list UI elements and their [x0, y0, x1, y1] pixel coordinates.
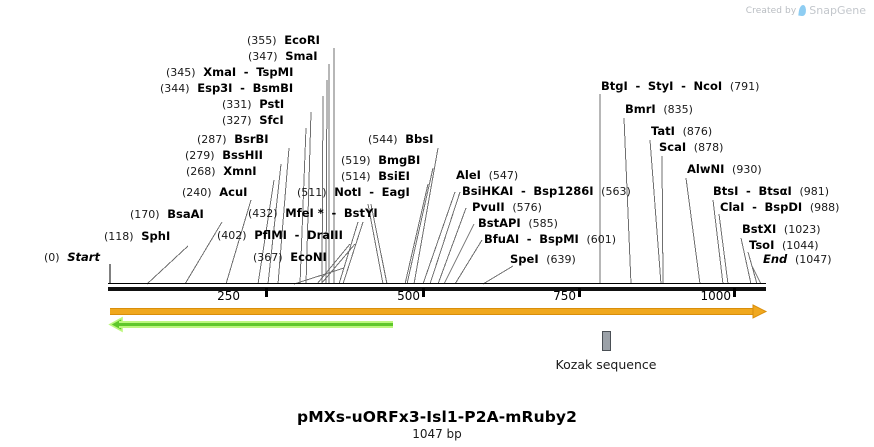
site-separator: -	[752, 200, 757, 214]
axis-tick-750	[578, 288, 581, 297]
site-position: (639)	[546, 253, 576, 266]
plasmid-length: 1047 bp	[0, 427, 874, 441]
site-position: (344)	[160, 82, 190, 95]
site-label-SmaI[interactable]: (347) SmaI	[248, 50, 318, 63]
site-label-BtsI-BtsaI[interactable]: BtsI - BtsαI (981)	[713, 185, 829, 198]
site-label-BstAPI[interactable]: BstAPI (585)	[478, 217, 558, 230]
site-name: AcuI	[219, 185, 247, 199]
start-position: (0)	[44, 251, 60, 264]
snapgene-credit: Created by SnapGene	[746, 4, 866, 17]
axis-tick-1000	[733, 288, 736, 297]
site-position: (878)	[694, 141, 724, 154]
axis-tick-label-500: 500	[397, 289, 420, 303]
site-name: BsiEI	[378, 169, 410, 183]
site-position: (791)	[730, 80, 760, 93]
site-separator: -	[527, 232, 532, 246]
site-label-XmnI[interactable]: (268) XmnI	[186, 165, 257, 178]
site-name: BssHII	[222, 148, 263, 162]
feature-kozak-box[interactable]	[602, 331, 611, 351]
site-name: SphI	[141, 229, 170, 243]
site-label-PvuII[interactable]: PvuII (576)	[472, 201, 542, 214]
site-position: (240)	[182, 186, 212, 199]
site-position: (170)	[130, 208, 160, 221]
backbone-line-thick	[108, 287, 766, 291]
site-position: (432)	[248, 207, 278, 220]
site-name: BstXI	[742, 222, 776, 236]
site-label-TatI[interactable]: TatI (876)	[651, 125, 712, 138]
site-label-BtgI-StyI-NcoI[interactable]: BtgI - StyI - NcoI (791)	[601, 80, 759, 93]
site-position: (981)	[799, 185, 829, 198]
axis-tick-250	[265, 288, 268, 297]
snapgene-brand: SnapGene	[809, 4, 866, 17]
site-name: PflMI	[254, 228, 287, 242]
site-separator: -	[240, 81, 245, 95]
site-name: XmnI	[223, 164, 256, 178]
site-name: Bsp1286I	[533, 184, 593, 198]
site-position: (355)	[247, 34, 277, 47]
site-position: (331)	[222, 98, 252, 111]
site-label-NotI-EagI[interactable]: (511) NotI - EagI	[297, 186, 410, 199]
site-label-PflMI-DraIII[interactable]: (402) PflMI - DraIII	[217, 229, 343, 242]
site-position: (835)	[663, 103, 693, 116]
feature-kozak-label: Kozak sequence	[506, 357, 706, 372]
site-position: (547)	[489, 169, 519, 182]
site-position: (279)	[185, 149, 215, 162]
site-position: (930)	[732, 163, 762, 176]
site-label-MfeI-BstYI[interactable]: (432) MfeI * - BstYI	[248, 207, 378, 220]
site-label-AcuI[interactable]: (240) AcuI	[182, 186, 247, 199]
end-position: (1047)	[795, 253, 832, 266]
site-name: BmrI	[625, 102, 656, 116]
site-label-SphI[interactable]: (118) SphI	[104, 230, 170, 243]
axis-tick-label-250: 250	[217, 289, 240, 303]
end-label[interactable]: End (1047)	[763, 253, 832, 266]
site-label-ClaI-BspDI[interactable]: ClaI - BspDI (988)	[720, 201, 839, 214]
site-label-TsoI[interactable]: TsoI (1044)	[749, 239, 819, 252]
feature-green-body[interactable]	[119, 321, 393, 328]
site-name: Esp3I	[197, 81, 232, 95]
backbone-line-thin	[108, 283, 766, 284]
site-label-EcoNI[interactable]: (367) EcoNI	[253, 251, 327, 264]
site-name: BsiHKAI	[462, 184, 513, 198]
site-label-BsrBI[interactable]: (287) BsrBI	[197, 133, 269, 146]
site-label-AlwNI[interactable]: AlwNI (930)	[687, 163, 762, 176]
site-name: EagI	[382, 185, 410, 199]
site-name: EcoNI	[290, 250, 326, 264]
site-position: (514)	[341, 170, 371, 183]
site-label-XmaI-TspMI[interactable]: (345) XmaI - TspMI	[166, 66, 293, 79]
site-name: AlwNI	[687, 162, 724, 176]
site-name: PvuII	[472, 200, 505, 214]
site-separator: -	[369, 185, 374, 199]
site-label-ScaI[interactable]: ScaI (878)	[659, 141, 723, 154]
credit-prefix: Created by	[746, 6, 797, 16]
axis-tick-label-1000: 1000	[700, 289, 731, 303]
site-name: ClaI	[720, 200, 744, 214]
site-position: (287)	[197, 133, 227, 146]
site-position: (118)	[104, 230, 134, 243]
site-label-AleI[interactable]: AleI (547)	[456, 169, 518, 182]
site-separator: -	[244, 65, 249, 79]
site-name: ScaI	[659, 140, 686, 154]
site-separator: -	[295, 228, 300, 242]
site-name: NcoI	[694, 79, 723, 93]
site-position: (402)	[217, 229, 247, 242]
site-separator: -	[746, 184, 751, 198]
site-name: AleI	[456, 168, 481, 182]
site-label-BfuAI-BspMI[interactable]: BfuAI - BspMI (601)	[484, 233, 616, 246]
site-position: (327)	[222, 114, 252, 127]
site-position: (988)	[810, 201, 840, 214]
site-name: DraIII	[307, 228, 343, 242]
site-position: (345)	[166, 66, 196, 79]
site-name: BtgI	[601, 79, 628, 93]
site-separator: -	[681, 79, 686, 93]
site-name: NotI	[334, 185, 361, 199]
site-name: BtsαI	[758, 184, 791, 198]
site-position: (1023)	[784, 223, 821, 236]
site-name: SmaI	[285, 49, 317, 63]
site-position: (367)	[253, 251, 283, 264]
site-label-BbsI[interactable]: (544) BbsI	[368, 133, 433, 146]
site-name: TatI	[651, 124, 675, 138]
site-name: MfeI *	[285, 206, 324, 220]
site-label-BssHII[interactable]: (279) BssHII	[185, 149, 263, 162]
site-separator: -	[331, 206, 336, 220]
site-position: (563)	[601, 185, 631, 198]
site-name: BmgBI	[378, 153, 420, 167]
site-name: BstYI	[344, 206, 378, 220]
site-position: (1044)	[782, 239, 819, 252]
site-label-BsaAI[interactable]: (170) BsaAI	[130, 208, 204, 221]
snapgene-leaf-icon	[799, 5, 807, 17]
site-name: BsrBI	[234, 132, 268, 146]
site-position: (268)	[186, 165, 216, 178]
site-name: StyI	[648, 79, 674, 93]
site-name: XmaI	[203, 65, 236, 79]
site-label-BmrI[interactable]: BmrI (835)	[625, 103, 693, 116]
site-name: EcoRI	[284, 33, 320, 47]
site-name: TspMI	[256, 65, 293, 79]
site-name: TsoI	[749, 238, 774, 252]
axis-tick-500	[422, 288, 425, 297]
plasmid-map-canvas: Created by SnapGene	[0, 0, 874, 447]
start-name: Start	[67, 250, 100, 264]
site-name: BtsI	[713, 184, 738, 198]
site-name: BsaAI	[167, 207, 204, 221]
site-label-PstI[interactable]: (331) PstI	[222, 98, 284, 111]
site-name: BsmBI	[253, 81, 294, 95]
site-label-BsiHKAI-Bsp1286I[interactable]: BsiHKAI - Bsp1286I (563)	[462, 185, 631, 198]
site-name: BspMI	[539, 232, 579, 246]
site-label-SpeI[interactable]: SpeI (639)	[510, 253, 576, 266]
site-label-BstXI[interactable]: BstXI (1023)	[742, 223, 821, 236]
site-position: (601)	[586, 233, 616, 246]
site-name: SpeI	[510, 252, 539, 266]
site-name: BstAPI	[478, 216, 521, 230]
start-label[interactable]: (0) Start	[44, 251, 100, 264]
end-name: End	[763, 252, 787, 266]
site-name: SfcI	[259, 113, 283, 127]
site-name: PstI	[259, 97, 284, 111]
site-label-Esp3I-BsmBI[interactable]: (344) Esp3I - BsmBI	[160, 82, 293, 95]
site-position: (876)	[683, 125, 713, 138]
axis-tick-label-750: 750	[553, 289, 576, 303]
site-label-BsiEI[interactable]: (514) BsiEI	[341, 170, 410, 183]
site-separator: -	[635, 79, 640, 93]
site-label-SfcI[interactable]: (327) SfcI	[222, 114, 284, 127]
site-position: (544)	[368, 133, 398, 146]
site-name: BspDI	[765, 200, 803, 214]
site-name: BbsI	[405, 132, 433, 146]
site-position: (585)	[528, 217, 558, 230]
plasmid-title: pMXs-uORFx3-Isl1-P2A-mRuby2	[0, 408, 874, 426]
site-name: BfuAI	[484, 232, 519, 246]
site-position: (519)	[341, 154, 371, 167]
site-label-EcoRI[interactable]: (355) EcoRI	[247, 34, 320, 47]
feature-orange-body[interactable]	[110, 308, 756, 315]
site-separator: -	[521, 184, 526, 198]
site-label-BmgBI[interactable]: (519) BmgBI	[341, 154, 420, 167]
site-position: (347)	[248, 50, 278, 63]
site-position: (576)	[512, 201, 542, 214]
site-position: (511)	[297, 186, 327, 199]
